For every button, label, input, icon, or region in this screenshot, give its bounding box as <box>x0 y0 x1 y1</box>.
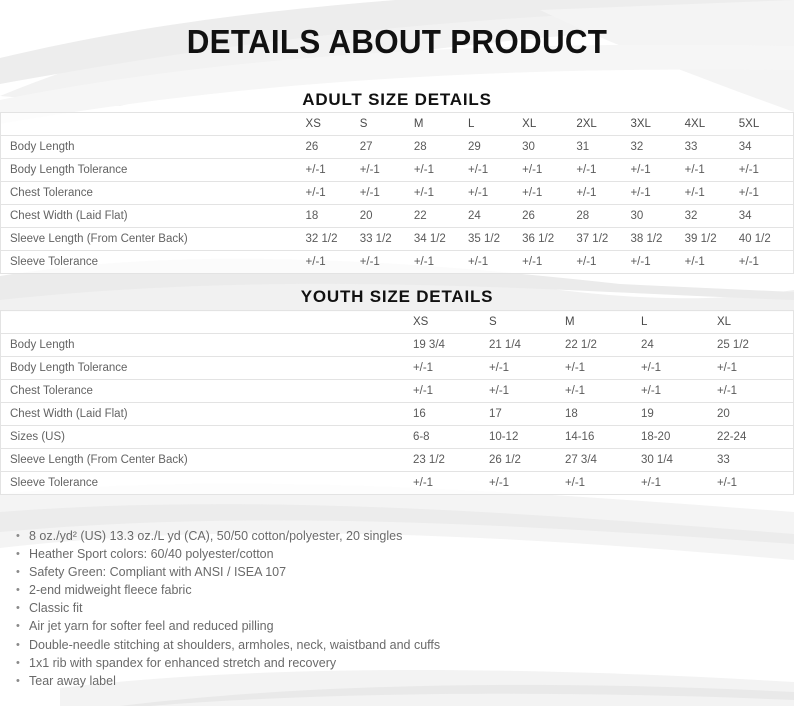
adult-cell: 31 <box>576 136 630 159</box>
adult-cell: +/-1 <box>739 182 794 205</box>
adult-col-header-5xl: 5XL <box>739 113 794 136</box>
adult-row-label: Body Length Tolerance <box>1 159 306 182</box>
product-details-page: DETAILS ABOUT PRODUCT ADULT SIZE DETAILS… <box>0 0 794 706</box>
adult-cell: +/-1 <box>414 182 468 205</box>
youth-cell: +/-1 <box>565 357 641 380</box>
youth-col-header-s: S <box>489 311 565 334</box>
youth-cell: 33 <box>717 449 794 472</box>
product-features-list: 8 oz./yd² (US) 13.3 oz./L yd (CA), 50/50… <box>0 527 794 690</box>
table-row: Sleeve Tolerance +/-1 +/-1 +/-1 +/-1 +/-… <box>1 472 794 495</box>
adult-cell: +/-1 <box>630 182 684 205</box>
adult-cell: +/-1 <box>685 251 739 274</box>
adult-col-header-2xl: 2XL <box>576 113 630 136</box>
youth-header-blank <box>1 311 413 334</box>
youth-cell: +/-1 <box>413 380 489 403</box>
adult-row-label: Chest Tolerance <box>1 182 306 205</box>
table-row: Body Length Tolerance +/-1 +/-1 +/-1 +/-… <box>1 357 794 380</box>
youth-row-label: Sleeve Tolerance <box>1 472 413 495</box>
table-row: Sleeve Length (From Center Back) 32 1/2 … <box>1 228 794 251</box>
adult-cell: 39 1/2 <box>685 228 739 251</box>
youth-cell: 26 1/2 <box>489 449 565 472</box>
adult-cell: +/-1 <box>468 159 522 182</box>
youth-size-heading: YOUTH SIZE DETAILS <box>0 287 794 307</box>
adult-col-header-s: S <box>360 113 414 136</box>
adult-cell: +/-1 <box>306 182 360 205</box>
table-row: Sleeve Length (From Center Back) 23 1/2 … <box>1 449 794 472</box>
adult-cell: 18 <box>306 205 360 228</box>
youth-cell: 18 <box>565 403 641 426</box>
adult-cell: +/-1 <box>576 251 630 274</box>
adult-cell: +/-1 <box>739 251 794 274</box>
adult-col-header-xl: XL <box>522 113 576 136</box>
adult-cell: 33 <box>685 136 739 159</box>
adult-cell: 35 1/2 <box>468 228 522 251</box>
table-row: Chest Width (Laid Flat) 16 17 18 19 20 <box>1 403 794 426</box>
youth-cell: 21 1/4 <box>489 334 565 357</box>
adult-cell: 38 1/2 <box>630 228 684 251</box>
youth-cell: 24 <box>641 334 717 357</box>
table-row: Chest Width (Laid Flat) 18 20 22 24 26 2… <box>1 205 794 228</box>
youth-cell: +/-1 <box>565 472 641 495</box>
youth-cell: 22-24 <box>717 426 794 449</box>
youth-cell: 10-12 <box>489 426 565 449</box>
adult-cell: 32 <box>685 205 739 228</box>
list-item: Air jet yarn for softer feel and reduced… <box>0 617 794 635</box>
table-row: Chest Tolerance +/-1 +/-1 +/-1 +/-1 +/-1… <box>1 182 794 205</box>
youth-cell: 27 3/4 <box>565 449 641 472</box>
adult-cell: +/-1 <box>685 159 739 182</box>
adult-cell: +/-1 <box>630 251 684 274</box>
adult-cell: +/-1 <box>522 251 576 274</box>
youth-row-label: Body Length Tolerance <box>1 357 413 380</box>
list-item: Classic fit <box>0 599 794 617</box>
adult-cell: +/-1 <box>360 159 414 182</box>
adult-cell: 20 <box>360 205 414 228</box>
list-item: Safety Green: Compliant with ANSI / ISEA… <box>0 563 794 581</box>
adult-cell: 24 <box>468 205 522 228</box>
adult-col-header-3xl: 3XL <box>630 113 684 136</box>
youth-row-label: Chest Tolerance <box>1 380 413 403</box>
adult-cell: 34 <box>739 136 794 159</box>
adult-cell: +/-1 <box>522 182 576 205</box>
adult-size-table: XS S M L XL 2XL 3XL 4XL 5XL Body Length … <box>0 112 794 274</box>
youth-col-header-m: M <box>565 311 641 334</box>
youth-cell: +/-1 <box>489 357 565 380</box>
adult-cell: +/-1 <box>522 159 576 182</box>
youth-cell: +/-1 <box>717 472 794 495</box>
adult-cell: +/-1 <box>468 251 522 274</box>
youth-cell: +/-1 <box>717 380 794 403</box>
adult-cell: 28 <box>576 205 630 228</box>
adult-cell: 26 <box>522 205 576 228</box>
adult-cell: 22 <box>414 205 468 228</box>
list-item: 2-end midweight fleece fabric <box>0 581 794 599</box>
adult-cell: 26 <box>306 136 360 159</box>
adult-cell: 30 <box>630 205 684 228</box>
list-item: Heather Sport colors: 60/40 polyester/co… <box>0 545 794 563</box>
youth-row-label: Body Length <box>1 334 413 357</box>
adult-cell: 36 1/2 <box>522 228 576 251</box>
adult-cell: +/-1 <box>306 251 360 274</box>
adult-table-body: Body Length 26 27 28 29 30 31 32 33 34 B… <box>1 136 794 274</box>
youth-cell: 6-8 <box>413 426 489 449</box>
youth-col-header-l: L <box>641 311 717 334</box>
adult-cell: 29 <box>468 136 522 159</box>
youth-row-label: Sleeve Length (From Center Back) <box>1 449 413 472</box>
youth-header-row: XS S M L XL <box>1 311 794 334</box>
adult-header-blank <box>1 113 306 136</box>
adult-cell: +/-1 <box>306 159 360 182</box>
adult-cell: 27 <box>360 136 414 159</box>
adult-col-header-xs: XS <box>306 113 360 136</box>
list-item: 1x1 rib with spandex for enhanced stretc… <box>0 654 794 672</box>
table-row: Sleeve Tolerance +/-1 +/-1 +/-1 +/-1 +/-… <box>1 251 794 274</box>
youth-cell: 20 <box>717 403 794 426</box>
youth-cell: 18-20 <box>641 426 717 449</box>
adult-cell: +/-1 <box>360 182 414 205</box>
adult-col-header-l: L <box>468 113 522 136</box>
youth-cell: 16 <box>413 403 489 426</box>
adult-table-head: XS S M L XL 2XL 3XL 4XL 5XL <box>1 113 794 136</box>
youth-table-body: Body Length 19 3/4 21 1/4 22 1/2 24 25 1… <box>1 334 794 495</box>
youth-cell: +/-1 <box>641 380 717 403</box>
table-row: Body Length 26 27 28 29 30 31 32 33 34 <box>1 136 794 159</box>
youth-cell: +/-1 <box>489 472 565 495</box>
adult-cell: 33 1/2 <box>360 228 414 251</box>
adult-cell: 40 1/2 <box>739 228 794 251</box>
adult-row-label: Sleeve Tolerance <box>1 251 306 274</box>
adult-row-label: Body Length <box>1 136 306 159</box>
adult-cell: +/-1 <box>685 182 739 205</box>
adult-cell: 28 <box>414 136 468 159</box>
youth-cell: 30 1/4 <box>641 449 717 472</box>
adult-cell: +/-1 <box>576 182 630 205</box>
adult-col-header-4xl: 4XL <box>685 113 739 136</box>
adult-cell: 37 1/2 <box>576 228 630 251</box>
youth-col-header-xs: XS <box>413 311 489 334</box>
adult-cell: +/-1 <box>414 251 468 274</box>
list-item: Double-needle stitching at shoulders, ar… <box>0 636 794 654</box>
adult-cell: 34 1/2 <box>414 228 468 251</box>
youth-cell: 25 1/2 <box>717 334 794 357</box>
adult-cell: +/-1 <box>739 159 794 182</box>
adult-col-header-m: M <box>414 113 468 136</box>
table-row: Body Length 19 3/4 21 1/4 22 1/2 24 25 1… <box>1 334 794 357</box>
adult-size-heading: ADULT SIZE DETAILS <box>0 90 794 110</box>
youth-cell: 14-16 <box>565 426 641 449</box>
youth-cell: +/-1 <box>413 357 489 380</box>
adult-cell: +/-1 <box>576 159 630 182</box>
youth-cell: 22 1/2 <box>565 334 641 357</box>
youth-cell: +/-1 <box>641 357 717 380</box>
youth-cell: +/-1 <box>641 472 717 495</box>
list-item: Tear away label <box>0 672 794 690</box>
youth-size-table: XS S M L XL Body Length 19 3/4 21 1/4 22… <box>0 310 794 495</box>
youth-cell: +/-1 <box>565 380 641 403</box>
page-title: DETAILS ABOUT PRODUCT <box>20 23 774 61</box>
adult-cell: +/-1 <box>630 159 684 182</box>
list-item: 8 oz./yd² (US) 13.3 oz./L yd (CA), 50/50… <box>0 527 794 545</box>
youth-cell: 17 <box>489 403 565 426</box>
youth-cell: 19 <box>641 403 717 426</box>
youth-cell: +/-1 <box>413 472 489 495</box>
youth-row-label: Chest Width (Laid Flat) <box>1 403 413 426</box>
adult-cell: +/-1 <box>414 159 468 182</box>
adult-cell: +/-1 <box>360 251 414 274</box>
table-row: Body Length Tolerance +/-1 +/-1 +/-1 +/-… <box>1 159 794 182</box>
adult-cell: 30 <box>522 136 576 159</box>
adult-row-label: Sleeve Length (From Center Back) <box>1 228 306 251</box>
youth-cell: 19 3/4 <box>413 334 489 357</box>
youth-col-header-xl: XL <box>717 311 794 334</box>
youth-cell: 23 1/2 <box>413 449 489 472</box>
adult-cell: 32 1/2 <box>306 228 360 251</box>
youth-cell: +/-1 <box>717 357 794 380</box>
table-row: Sizes (US) 6-8 10-12 14-16 18-20 22-24 <box>1 426 794 449</box>
youth-table-head: XS S M L XL <box>1 311 794 334</box>
youth-row-label: Sizes (US) <box>1 426 413 449</box>
youth-cell: +/-1 <box>489 380 565 403</box>
adult-cell: 34 <box>739 205 794 228</box>
adult-header-row: XS S M L XL 2XL 3XL 4XL 5XL <box>1 113 794 136</box>
adult-cell: 32 <box>630 136 684 159</box>
adult-cell: +/-1 <box>468 182 522 205</box>
table-row: Chest Tolerance +/-1 +/-1 +/-1 +/-1 +/-1 <box>1 380 794 403</box>
adult-row-label: Chest Width (Laid Flat) <box>1 205 306 228</box>
